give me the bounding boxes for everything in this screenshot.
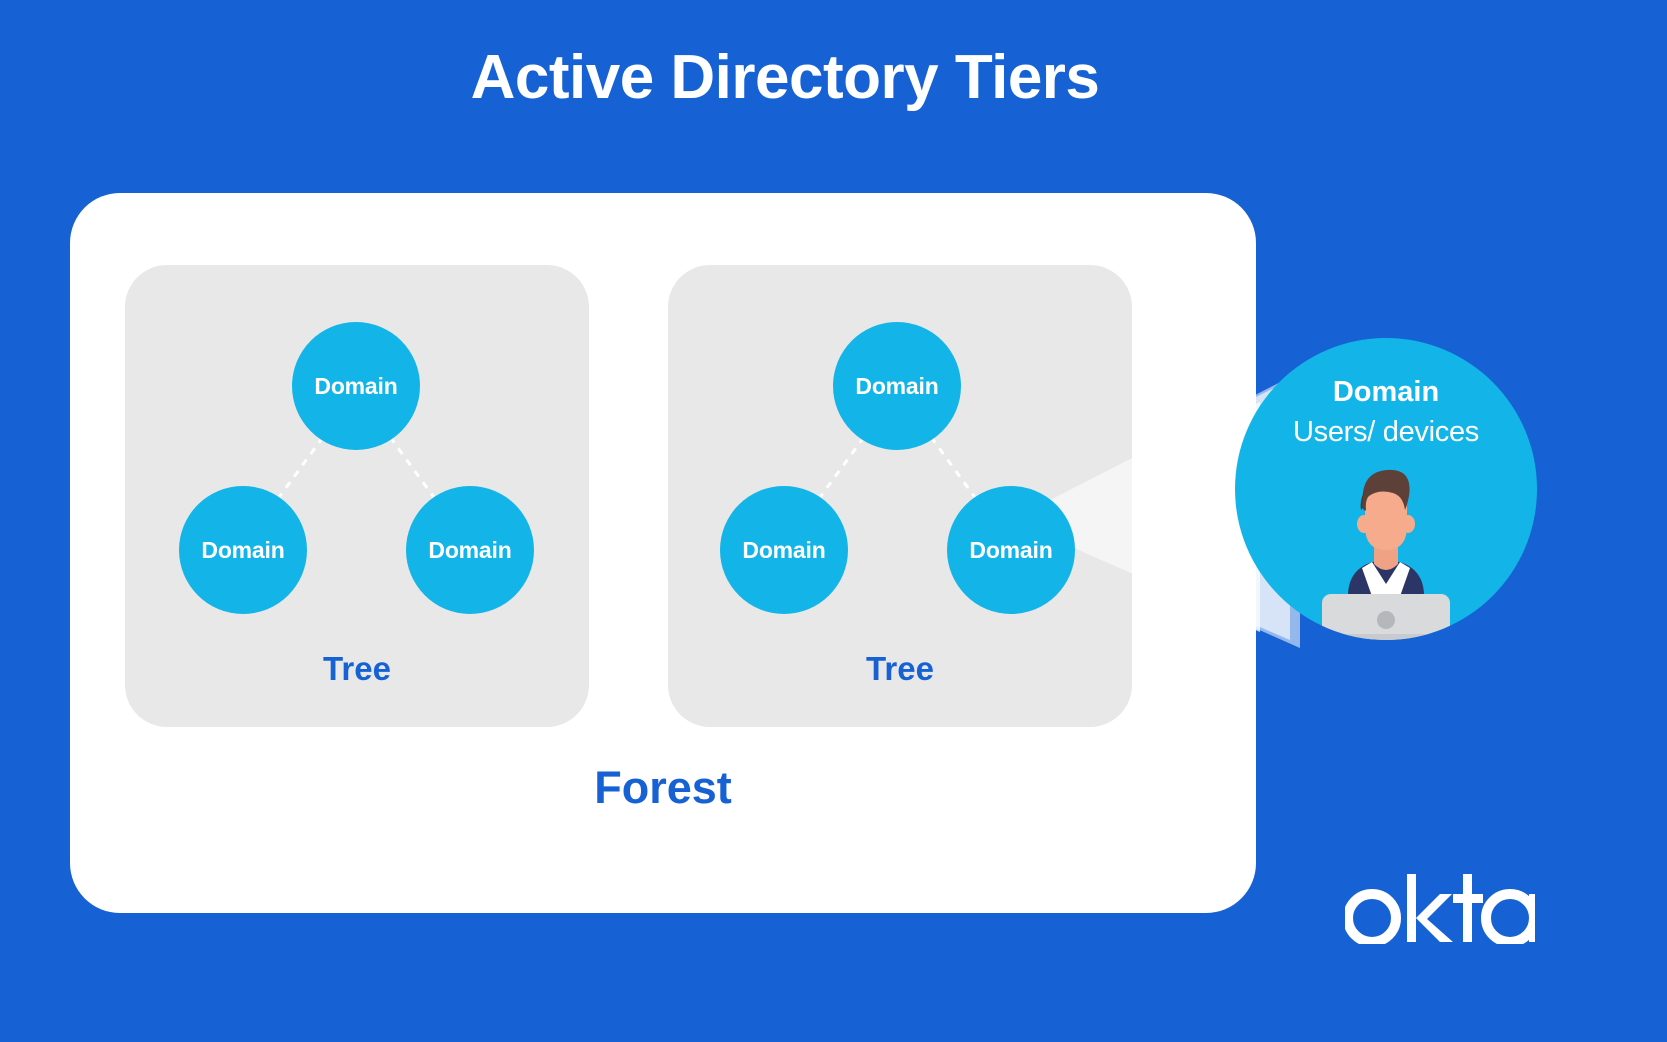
forest-label: Forest xyxy=(70,762,1256,814)
domain-circle-right-tree-bottom-right[interactable]: Domain xyxy=(947,486,1075,614)
tree-label-left: Tree xyxy=(125,650,589,688)
callout-title: Domain xyxy=(1235,376,1537,409)
domain-circle-right-tree-top[interactable]: Domain xyxy=(833,322,961,450)
person-at-laptop-icon xyxy=(1286,458,1486,640)
page-title: Active Directory Tiers xyxy=(0,44,1570,112)
diagram-canvas: Active Directory Tiers Domain Domain Dom… xyxy=(0,0,1667,1042)
callout-subtitle: Users/ devices xyxy=(1235,416,1537,449)
domain-circle-left-tree-bottom-right[interactable]: Domain xyxy=(406,486,534,614)
domain-circle-left-tree-top[interactable]: Domain xyxy=(292,322,420,450)
tree-label-right: Tree xyxy=(668,650,1132,688)
domain-detail-callout[interactable]: Domain Users/ devices xyxy=(1235,338,1537,640)
okta-logo xyxy=(1345,872,1535,944)
domain-circle-left-tree-bottom-left[interactable]: Domain xyxy=(179,486,307,614)
domain-circle-right-tree-bottom-left[interactable]: Domain xyxy=(720,486,848,614)
